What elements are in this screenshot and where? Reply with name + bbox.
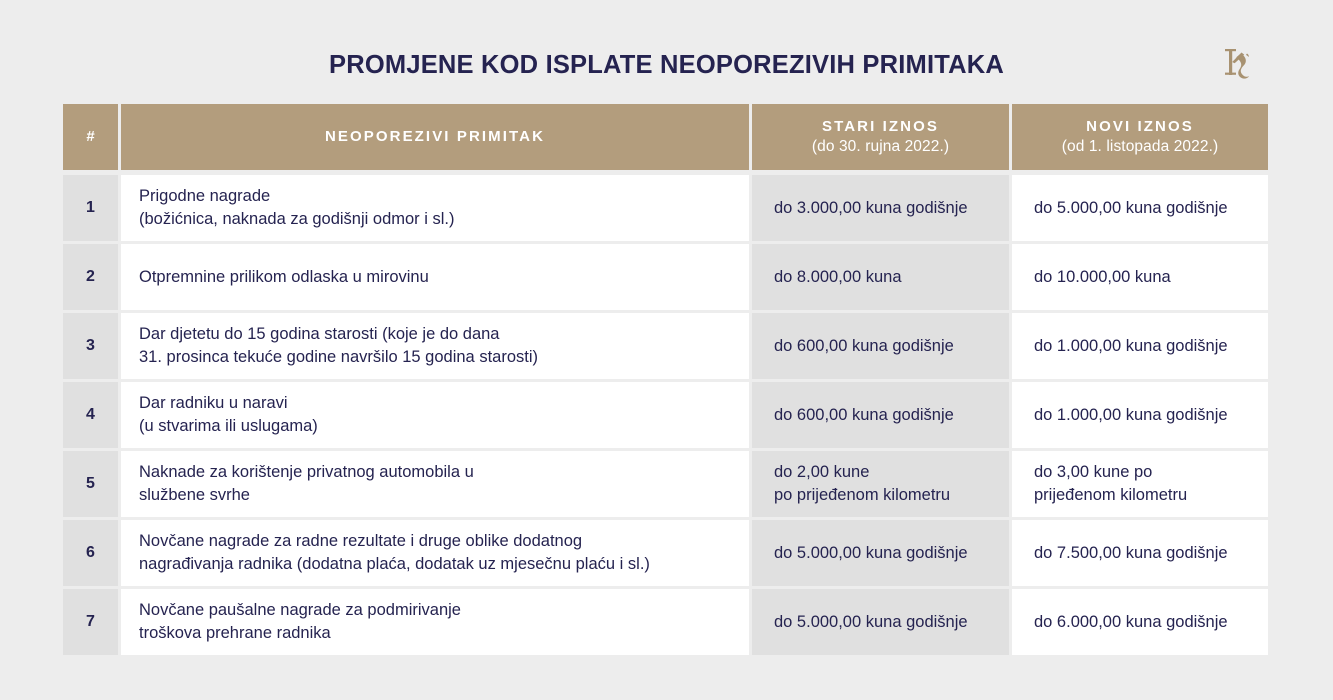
row-description: Dar djetetu do 15 godina starosti (koje … — [121, 313, 749, 379]
row-new-amount-line1: do 1.000,00 kuna godišnje — [1034, 404, 1228, 427]
row-description-line2: službene svrhe — [139, 484, 474, 507]
row-old-amount: do 3.000,00 kuna godišnje — [752, 175, 1009, 241]
header-cell-old-amount: STARI IZNOS (do 30. rujna 2022.) — [752, 104, 1009, 170]
row-old-amount: do 5.000,00 kuna godišnje — [752, 520, 1009, 586]
row-description-line1: Dar radniku u naravi — [139, 392, 318, 415]
row-description: Novčane nagrade za radne rezultate i dru… — [121, 520, 749, 586]
row-number: 7 — [63, 589, 118, 655]
row-old-amount-line1: do 2,00 kune — [774, 461, 950, 484]
header-old-amount-sublabel: (do 30. rujna 2022.) — [812, 137, 949, 157]
row-new-amount-line1: do 6.000,00 kuna godišnje — [1034, 611, 1228, 634]
table-row: 6 Novčane nagrade za radne rezultate i d… — [63, 520, 1268, 586]
header-new-amount-sublabel: (od 1. listopada 2022.) — [1062, 137, 1219, 157]
table-row: 3 Dar djetetu do 15 godina starosti (koj… — [63, 313, 1268, 379]
row-old-amount-line1: do 8.000,00 kuna — [774, 266, 902, 289]
row-number: 6 — [63, 520, 118, 586]
row-new-amount-line1: do 5.000,00 kuna godišnje — [1034, 197, 1228, 220]
row-description-line1: Novčane nagrade za radne rezultate i dru… — [139, 530, 650, 553]
row-description: Naknade za korištenje privatnog automobi… — [121, 451, 749, 517]
header-cell-new-amount: NOVI IZNOS (od 1. listopada 2022.) — [1012, 104, 1268, 170]
row-number: 2 — [63, 244, 118, 310]
row-old-amount-line1: do 3.000,00 kuna godišnje — [774, 197, 968, 220]
row-old-amount: do 600,00 kuna godišnje — [752, 382, 1009, 448]
row-new-amount-line1: do 3,00 kune po — [1034, 461, 1187, 484]
row-new-amount: do 7.500,00 kuna godišnje — [1012, 520, 1268, 586]
header-number-label: # — [86, 127, 94, 147]
row-old-amount-line1: do 600,00 kuna godišnje — [774, 335, 954, 358]
row-new-amount: do 1.000,00 kuna godišnje — [1012, 382, 1268, 448]
row-description-line2: (u stvarima ili uslugama) — [139, 415, 318, 438]
row-description-line2: troškova prehrane radnika — [139, 622, 461, 645]
row-old-amount-line2: po prijeđenom kilometru — [774, 484, 950, 507]
row-description: Prigodne nagrade (božićnica, naknada za … — [121, 175, 749, 241]
row-description: Novčane paušalne nagrade za podmirivanje… — [121, 589, 749, 655]
row-old-amount: do 2,00 kune po prijeđenom kilometru — [752, 451, 1009, 517]
title-bar: PROMJENE KOD ISPLATE NEOPOREZIVIH PRIMIT… — [0, 48, 1333, 92]
row-description-line2: (božićnica, naknada za godišnji odmor i … — [139, 208, 455, 231]
row-old-amount-line1: do 5.000,00 kuna godišnje — [774, 542, 968, 565]
row-number: 4 — [63, 382, 118, 448]
row-description-line1: Dar djetetu do 15 godina starosti (koje … — [139, 323, 538, 346]
row-new-amount-line2: prijeđenom kilometru — [1034, 484, 1187, 507]
row-old-amount-line1: do 600,00 kuna godišnje — [774, 404, 954, 427]
header-cell-number: # — [63, 104, 118, 170]
infographic-page: PROMJENE KOD ISPLATE NEOPOREZIVIH PRIMIT… — [0, 0, 1333, 700]
row-description-line2: 31. prosinca tekuće godine navršilo 15 g… — [139, 346, 538, 369]
row-description: Dar radniku u naravi (u stvarima ili usl… — [121, 382, 749, 448]
table-row: 7 Novčane paušalne nagrade za podmirivan… — [63, 589, 1268, 655]
row-description-line1: Naknade za korištenje privatnog automobi… — [139, 461, 474, 484]
table-row: 4 Dar radniku u naravi (u stvarima ili u… — [63, 382, 1268, 448]
table-header-row: # NEOPOREZIVI PRIMITAK STARI IZNOS (do 3… — [63, 104, 1268, 170]
row-new-amount: do 5.000,00 kuna godišnje — [1012, 175, 1268, 241]
row-description: Otpremnine prilikom odlaska u mirovinu — [121, 244, 749, 310]
row-description-line1: Novčane paušalne nagrade za podmirivanje — [139, 599, 461, 622]
comparison-table: # NEOPOREZIVI PRIMITAK STARI IZNOS (do 3… — [63, 104, 1268, 658]
page-title: PROMJENE KOD ISPLATE NEOPOREZIVIH PRIMIT… — [0, 48, 1333, 82]
row-old-amount-line1: do 5.000,00 kuna godišnje — [774, 611, 968, 634]
table-row: 1 Prigodne nagrade (božićnica, naknada z… — [63, 175, 1268, 241]
row-new-amount-line1: do 10.000,00 kuna — [1034, 266, 1171, 289]
row-new-amount: do 6.000,00 kuna godišnje — [1012, 589, 1268, 655]
row-old-amount: do 5.000,00 kuna godišnje — [752, 589, 1009, 655]
header-old-amount-label: STARI IZNOS — [822, 117, 939, 137]
row-new-amount: do 3,00 kune po prijeđenom kilometru — [1012, 451, 1268, 517]
header-description-label: NEOPOREZIVI PRIMITAK — [325, 127, 545, 147]
table-row: 2 Otpremnine prilikom odlaska u mirovinu… — [63, 244, 1268, 310]
row-number: 5 — [63, 451, 118, 517]
header-new-amount-label: NOVI IZNOS — [1086, 117, 1194, 137]
row-description-line1: Prigodne nagrade — [139, 185, 455, 208]
row-old-amount: do 600,00 kuna godišnje — [752, 313, 1009, 379]
row-number: 3 — [63, 313, 118, 379]
row-new-amount: do 10.000,00 kuna — [1012, 244, 1268, 310]
row-new-amount-line1: do 1.000,00 kuna godišnje — [1034, 335, 1228, 358]
row-number: 1 — [63, 175, 118, 241]
row-old-amount: do 8.000,00 kuna — [752, 244, 1009, 310]
table-row: 5 Naknade za korištenje privatnog automo… — [63, 451, 1268, 517]
row-new-amount: do 1.000,00 kuna godišnje — [1012, 313, 1268, 379]
row-description-line2: nagrađivanja radnika (dodatna plaća, dod… — [139, 553, 650, 576]
row-description-line1: Otpremnine prilikom odlaska u mirovinu — [139, 266, 429, 289]
row-new-amount-line1: do 7.500,00 kuna godišnje — [1034, 542, 1228, 565]
header-cell-description: NEOPOREZIVI PRIMITAK — [121, 104, 749, 170]
ks-monogram-logo — [1216, 40, 1264, 90]
